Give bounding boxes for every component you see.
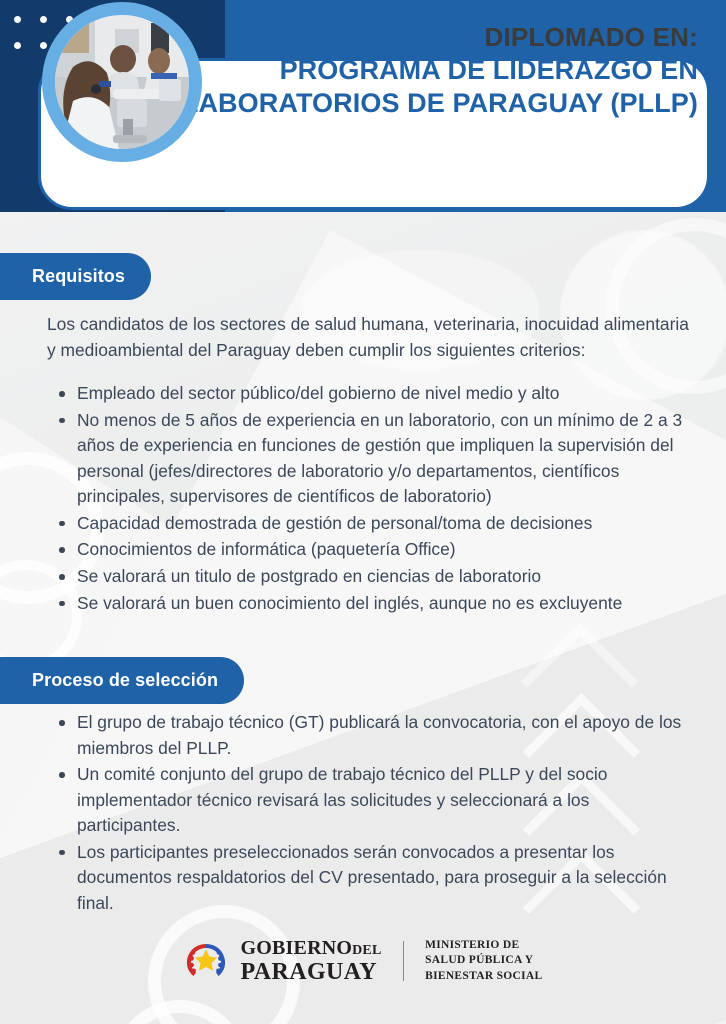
dot — [14, 42, 21, 49]
dot — [14, 16, 21, 23]
list-item: Se valorará un titulo de postgrado en ci… — [47, 564, 697, 590]
header-photo — [55, 15, 189, 149]
ministry-line-2: SALUD PÚBLICA Y — [425, 953, 542, 968]
gobierno-line: GOBIERNODEL — [241, 938, 382, 958]
dot — [14, 68, 21, 75]
requisitos-intro-text: Los candidatos de los sectores de salud … — [47, 312, 695, 363]
header-titles: DIPLOMADO EN: PROGRAMA DE LIDERAZGO EN L… — [138, 22, 698, 120]
footer-logo-bar: GOBIERNODEL PARAGUAY MINISTERIO DE SALUD… — [0, 930, 726, 992]
section-pill-proceso-de-seleccion: Proceso de selección — [0, 657, 244, 704]
paraguay-emblem-icon — [184, 941, 228, 981]
header-title-line-2: LABORATORIOS DE PARAGUAY (PLLP) — [138, 87, 698, 120]
gobierno-word: GOBIERNO — [241, 937, 353, 959]
paraguay-word: PARAGUAY — [241, 960, 382, 984]
ministry-wordmark: MINISTERIO DE SALUD PÚBLICA Y BIENESTAR … — [425, 938, 542, 984]
ministry-line-1: MINISTERIO DE — [425, 938, 542, 953]
list-item: Un comité conjunto del grupo de trabajo … — [47, 762, 697, 839]
list-item: Los participantes preseleccionados serán… — [47, 840, 697, 917]
dot — [40, 42, 47, 49]
dot — [40, 16, 47, 23]
list-item: Empleado del sector público/del gobierno… — [47, 381, 697, 407]
poster-root: DIPLOMADO EN: PROGRAMA DE LIDERAZGO EN L… — [0, 0, 726, 1024]
list-item: No menos de 5 años de experiencia en un … — [47, 408, 697, 510]
list-item: Conocimientos de informática (paquetería… — [47, 537, 697, 563]
section-pill-label: Requisitos — [32, 266, 125, 287]
header-kicker: DIPLOMADO EN: — [138, 22, 698, 52]
list-item: Capacidad demostrada de gestión de perso… — [47, 511, 697, 537]
list-item: Se valorará un buen conocimiento del ing… — [47, 591, 697, 617]
proceso-bullet-list: El grupo de trabajo técnico (GT) publica… — [47, 710, 697, 918]
section-pill-requisitos: Requisitos — [0, 253, 151, 300]
gobierno-paraguay-wordmark: GOBIERNODEL PARAGUAY — [241, 938, 382, 984]
section-pill-label: Proceso de selección — [32, 670, 218, 691]
lab-photo-illustration — [55, 15, 189, 149]
list-item: El grupo de trabajo técnico (GT) publica… — [47, 710, 697, 761]
header-photo-ring — [42, 2, 202, 162]
del-word: DEL — [352, 943, 381, 958]
header-title-line-1: PROGRAMA DE LIDERAZGO EN — [138, 54, 698, 87]
requisitos-bullet-list: Empleado del sector público/del gobierno… — [47, 381, 697, 617]
ministry-line-3: BIENESTAR SOCIAL — [425, 969, 542, 984]
footer-divider — [403, 941, 405, 981]
